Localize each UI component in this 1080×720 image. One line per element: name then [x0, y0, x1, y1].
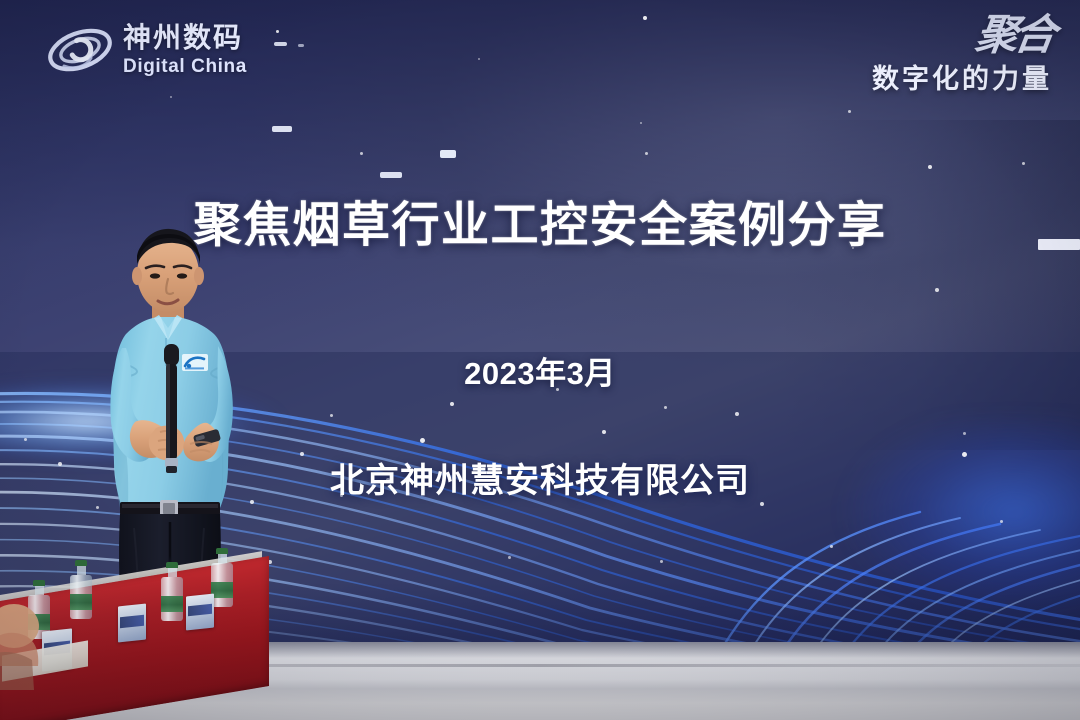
bottle-body	[161, 577, 183, 621]
name-card	[118, 604, 146, 643]
bottle-neck	[168, 568, 177, 577]
digital-china-swirl-icon	[44, 20, 116, 80]
bottle-label	[211, 582, 233, 598]
microphone	[164, 344, 179, 473]
seated-attendee	[0, 600, 66, 690]
bottle-neck	[218, 554, 227, 563]
brand-name-chinese: 神州数码	[123, 24, 247, 52]
bottle-neck	[77, 566, 86, 575]
water-bottle	[70, 560, 92, 619]
name-card-strip	[188, 604, 212, 617]
slogan-subtitle: 数字化的力量	[872, 57, 1052, 96]
bottle-label	[161, 596, 183, 612]
digital-china-logo: 神州数码 Digital China	[44, 20, 247, 80]
water-bottle	[211, 548, 233, 607]
water-bottle	[161, 562, 183, 621]
bottle-label	[70, 594, 92, 610]
name-card-strip	[120, 615, 144, 628]
event-slogan-logo: 聚合 数字化的力量	[872, 16, 1052, 96]
brand-name-english: Digital China	[123, 57, 247, 76]
slogan-calligraphy: 聚合	[869, 16, 1054, 55]
bottle-neck	[35, 586, 44, 595]
bottle-body	[70, 575, 92, 619]
conference-stage-photo: 神州数码 Digital China 聚合 数字化的力量 聚焦烟草行业工控安全案…	[0, 0, 1080, 720]
bottle-body	[211, 563, 233, 607]
name-card	[186, 594, 214, 631]
digital-china-wordmark: 神州数码 Digital China	[123, 24, 247, 76]
screen-edge-marker	[1038, 239, 1080, 250]
